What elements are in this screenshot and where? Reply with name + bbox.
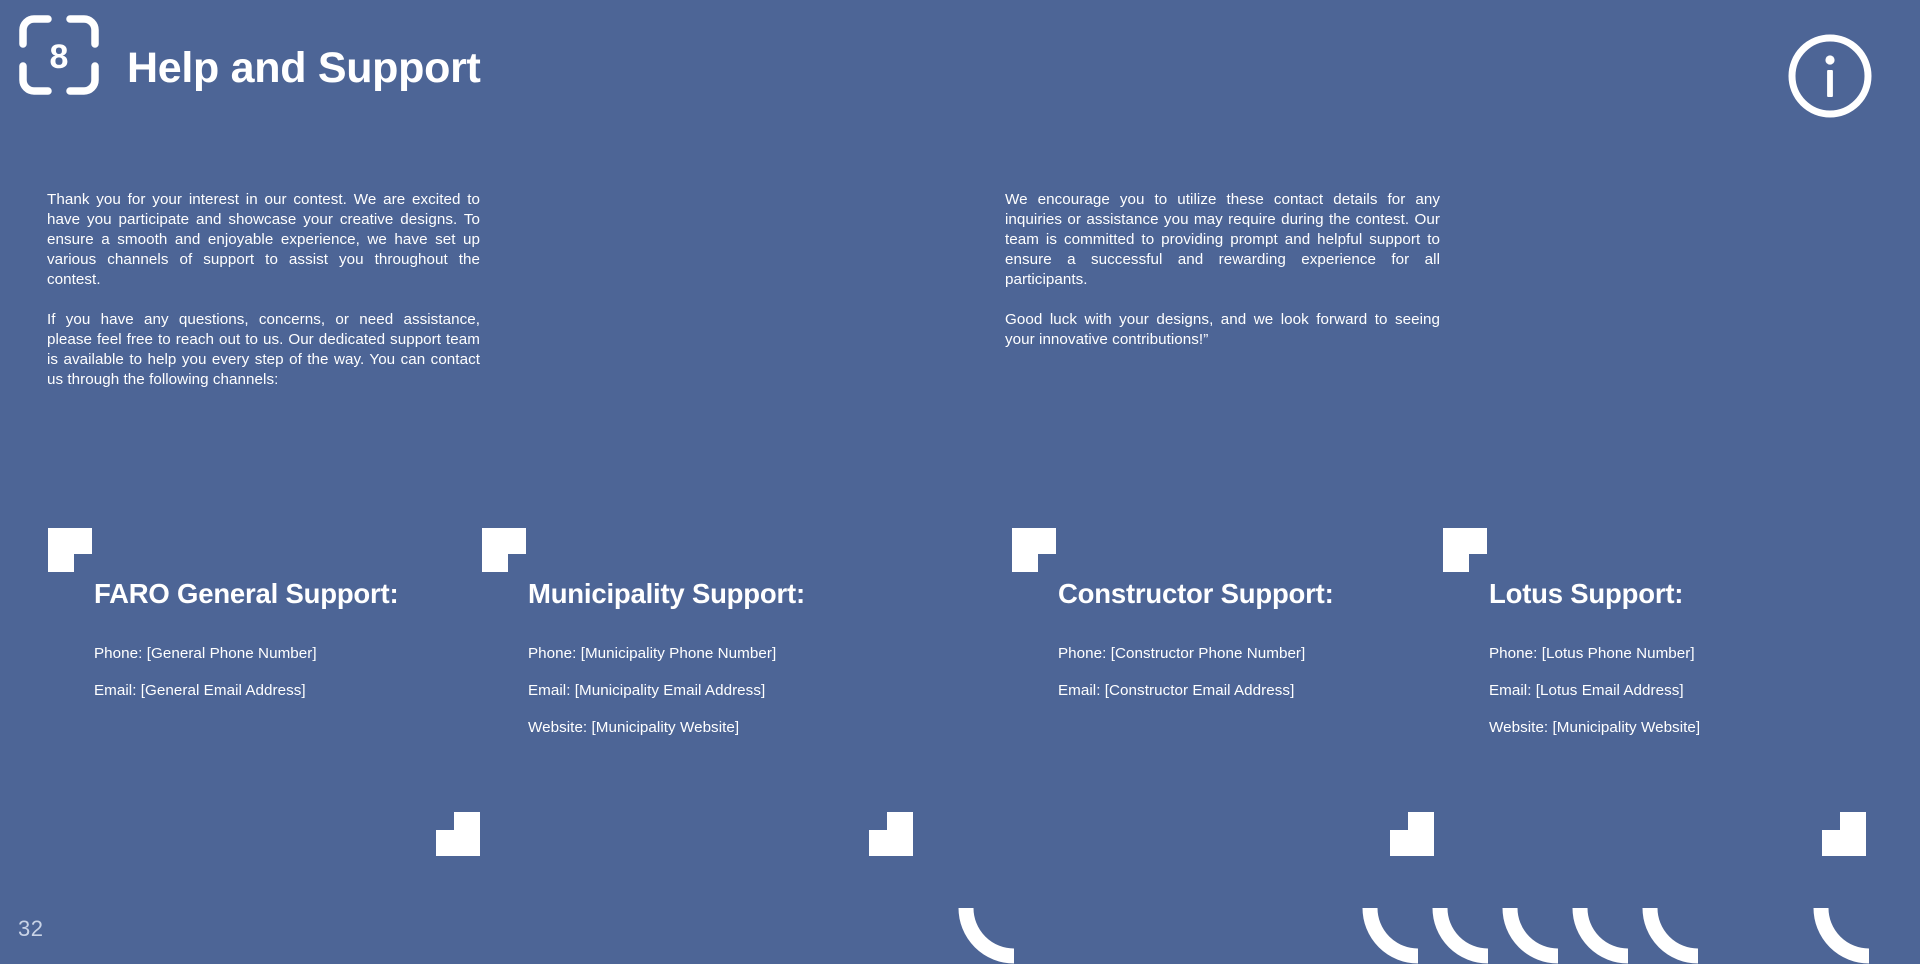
support-detail-phone: Phone: [Municipality Phone Number]	[528, 643, 776, 664]
support-card-details: Phone: [Constructor Phone Number] Email:…	[1058, 643, 1305, 701]
support-detail-phone: Phone: [Constructor Phone Number]	[1058, 643, 1305, 664]
corner-block-icon	[48, 528, 92, 572]
support-detail-email: Email: [Constructor Email Address]	[1058, 680, 1305, 701]
corner-block-icon	[482, 528, 526, 572]
support-detail-email: Email: [General Email Address]	[94, 680, 317, 701]
support-card-title: Lotus Support:	[1489, 578, 1683, 610]
support-detail-website: Website: [Municipality Website]	[528, 717, 776, 738]
page-number: 32	[18, 916, 43, 942]
support-card-title: Constructor Support:	[1058, 578, 1334, 610]
support-card-details: Phone: [General Phone Number] Email: [Ge…	[94, 643, 317, 701]
corner-block-icon	[1012, 528, 1056, 572]
support-detail-website: Website: [Municipality Website]	[1489, 717, 1700, 738]
support-card-details: Phone: [Municipality Phone Number] Email…	[528, 643, 776, 738]
support-detail-email: Email: [Municipality Email Address]	[528, 680, 776, 701]
support-detail-email: Email: [Lotus Email Address]	[1489, 680, 1700, 701]
support-cards: FARO General Support: Phone: [General Ph…	[0, 0, 1920, 960]
support-detail-phone: Phone: [Lotus Phone Number]	[1489, 643, 1700, 664]
corner-block-icon	[1443, 528, 1487, 572]
support-card-title: FARO General Support:	[94, 578, 398, 610]
support-card-details: Phone: [Lotus Phone Number] Email: [Lotu…	[1489, 643, 1700, 738]
support-detail-phone: Phone: [General Phone Number]	[94, 643, 317, 664]
support-card-title: Municipality Support:	[528, 578, 805, 610]
